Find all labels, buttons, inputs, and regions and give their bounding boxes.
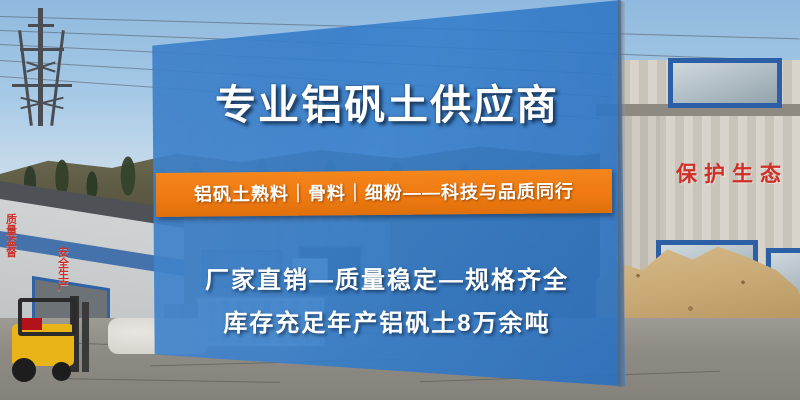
tagline-band: 铝矾土熟料｜骨料｜细粉——科技与品质同行	[156, 169, 612, 217]
panel-content: 专业铝矾土供应商 铝矾土熟料｜骨料｜细粉——科技与品质同行 厂家直销—质量稳定—…	[146, 0, 628, 400]
promotional-banner: 质量监督 安全生产 保护生态	[0, 0, 800, 400]
blue-panel-overlay: 专业铝矾土供应商 铝矾土熟料｜骨料｜细粉——科技与品质同行 厂家直销—质量稳定—…	[0, 0, 800, 400]
subtitle-line-2: 库存充足年产铝矾土8万余吨	[146, 303, 628, 338]
page-title: 专业铝矾土供应商	[146, 82, 628, 128]
subtitle-line-1: 厂家直销—质量稳定—规格齐全	[146, 260, 628, 295]
tagline-text: 铝矾土熟料｜骨料｜细粉——科技与品质同行	[156, 169, 612, 217]
